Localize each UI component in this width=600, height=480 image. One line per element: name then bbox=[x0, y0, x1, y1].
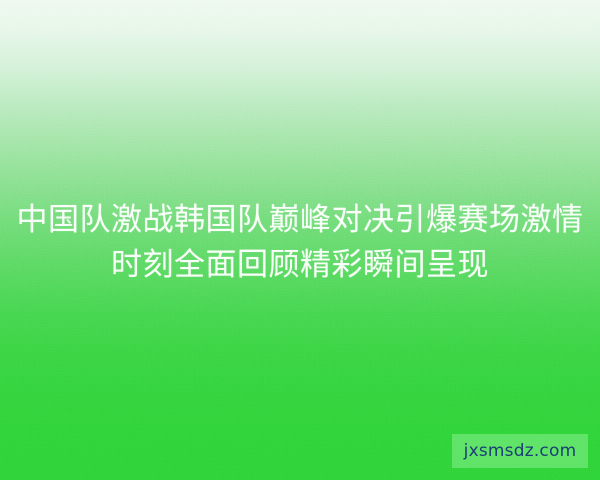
headline-text: 中国队激战韩国队巅峰对决引爆赛场激情 时刻全面回顾精彩瞬间呈现 bbox=[0, 198, 600, 288]
headline-line-2: 时刻全面回顾精彩瞬间呈现 bbox=[0, 243, 600, 288]
headline-line-1: 中国队激战韩国队巅峰对决引爆赛场激情 bbox=[0, 198, 600, 243]
watermark-site-label: jxsmsdz.com bbox=[464, 443, 577, 460]
banner-canvas: 中国队激战韩国队巅峰对决引爆赛场激情 时刻全面回顾精彩瞬间呈现 jxsmsdz.… bbox=[0, 0, 600, 480]
watermark-badge: jxsmsdz.com bbox=[452, 434, 588, 468]
